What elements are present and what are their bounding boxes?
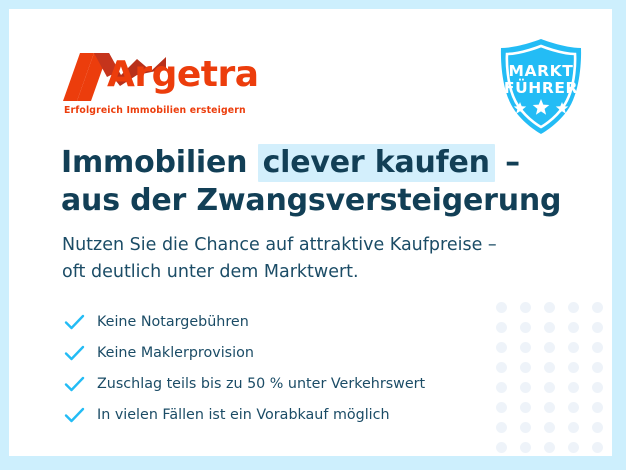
check-icon <box>62 375 88 393</box>
benefit-label: In vielen Fällen ist ein Vorabkauf mögli… <box>97 406 390 424</box>
benefit-label: Keine Notargebühren <box>97 313 249 331</box>
list-item: Zuschlag teils bis zu 50 % unter Verkehr… <box>62 368 562 399</box>
decorative-dot <box>520 442 531 453</box>
headline-line-1: Immobilien clever kaufen – <box>61 144 581 182</box>
check-icon <box>62 313 88 331</box>
argetra-logo[interactable]: Argetra Erfolgreich Immobilien ersteiger… <box>63 51 263 119</box>
page-title: Immobilien clever kaufen – aus der Zwang… <box>61 144 581 220</box>
headline-line-2: aus der Zwangsversteigerung <box>61 182 581 220</box>
decorative-dot <box>568 442 579 453</box>
subtitle-line-1: Nutzen Sie die Chance auf attraktive Kau… <box>62 232 582 259</box>
headline-highlight: clever kaufen <box>258 144 495 182</box>
headline-line-1-before: Immobilien <box>61 145 258 180</box>
check-icon <box>62 344 88 362</box>
decorative-dot <box>592 322 603 333</box>
badge-line-1: MARKT <box>494 63 588 80</box>
badge-line-2: FÜHRER <box>494 80 588 97</box>
list-item: In vielen Fällen ist ein Vorabkauf mögli… <box>62 399 562 430</box>
list-item: Keine Notargebühren <box>62 306 562 337</box>
benefit-label: Keine Maklerprovision <box>97 344 254 362</box>
decorative-dot <box>568 382 579 393</box>
decorative-dot <box>568 302 579 313</box>
benefit-list: Keine Notargebühren Keine Maklerprovisio… <box>62 306 562 430</box>
benefit-label: Zuschlag teils bis zu 50 % unter Verkehr… <box>97 375 425 393</box>
headline-line-1-after: – <box>495 145 520 180</box>
decorative-dot <box>592 402 603 413</box>
check-icon <box>62 406 88 424</box>
decorative-dot <box>568 362 579 373</box>
badge-text: MARKT FÜHRER <box>494 63 588 96</box>
decorative-dot <box>568 402 579 413</box>
subtitle-line-2: oft deutlich unter dem Marktwert. <box>62 259 582 286</box>
decorative-dot <box>568 342 579 353</box>
decorative-dot <box>592 362 603 373</box>
decorative-dot <box>592 382 603 393</box>
decorative-dot <box>592 422 603 433</box>
logo-tagline: Erfolgreich Immobilien ersteigern <box>64 105 246 116</box>
market-leader-badge: MARKT FÜHRER <box>494 37 588 137</box>
decorative-dot <box>544 442 555 453</box>
logo-wordmark: Argetra <box>107 53 259 97</box>
subtitle: Nutzen Sie die Chance auf attraktive Kau… <box>62 232 582 286</box>
decorative-dot <box>568 322 579 333</box>
banner-card: Argetra Erfolgreich Immobilien ersteiger… <box>9 9 612 456</box>
decorative-dot <box>592 442 603 453</box>
list-item: Keine Maklerprovision <box>62 337 562 368</box>
promo-banner: Argetra Erfolgreich Immobilien ersteiger… <box>0 0 626 470</box>
decorative-dot <box>568 422 579 433</box>
decorative-dot <box>592 342 603 353</box>
three-stars-icon <box>511 99 571 115</box>
decorative-dot <box>496 442 507 453</box>
decorative-dot <box>592 302 603 313</box>
badge-stars <box>494 99 588 119</box>
